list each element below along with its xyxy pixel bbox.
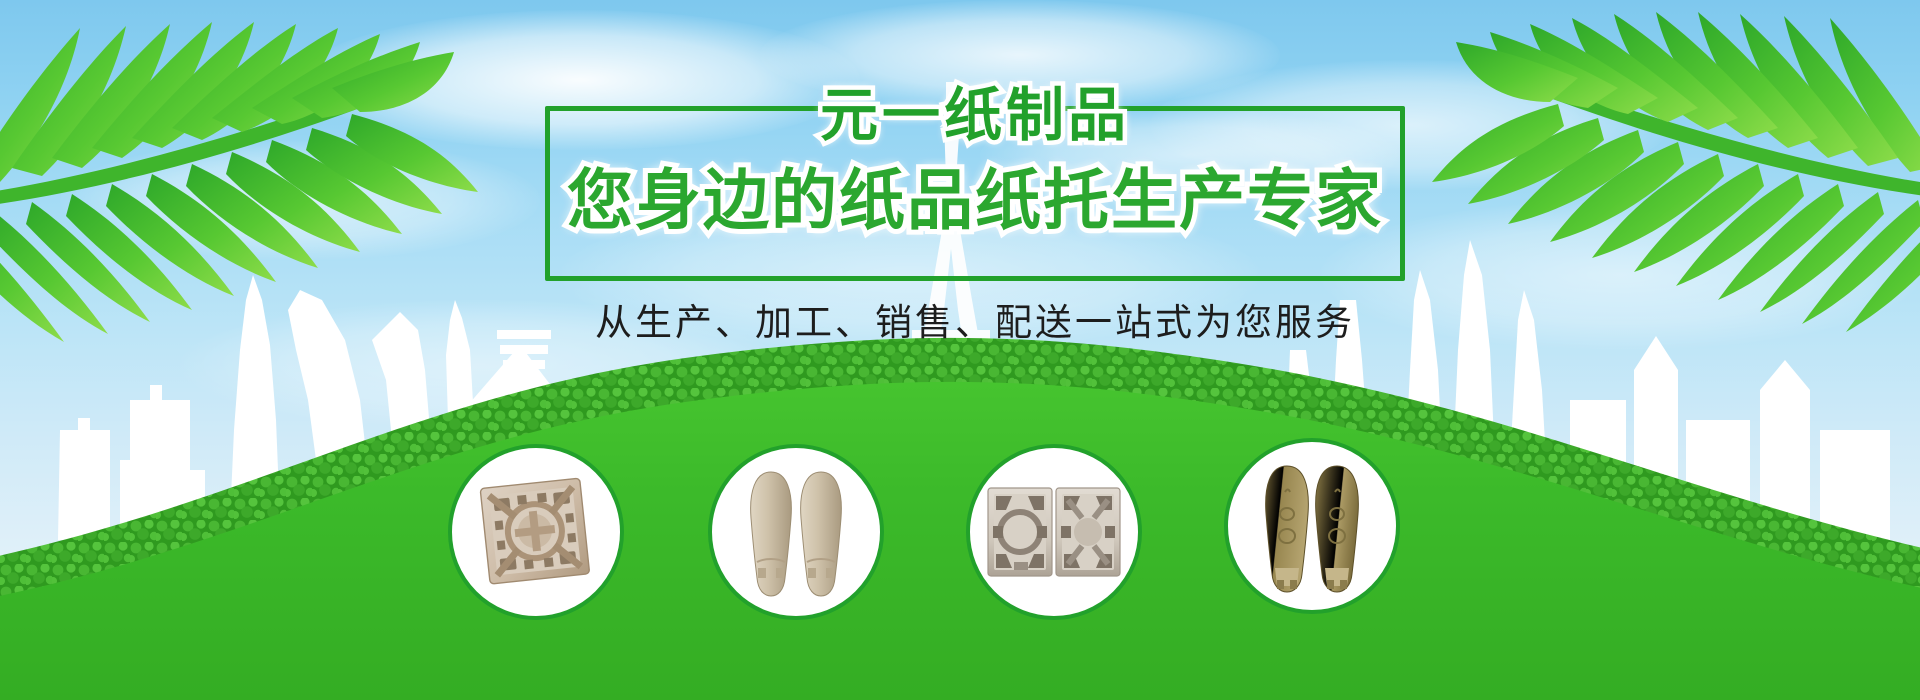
- molded-pulp-double-tray-icon: [984, 476, 1124, 588]
- paper-pulp-shoe-tree-dark-icon: [1247, 456, 1377, 596]
- promotional-banner: 元一纸制品 您身边的纸品纸托生产专家 从生产、加工、销售、配送一站式为您服务: [0, 0, 1920, 700]
- paper-pulp-shoe-tree-icon: [731, 462, 861, 602]
- product-circle-molded-pulp-double-tray[interactable]: [966, 444, 1142, 620]
- product-circle-paper-pulp-shoe-tree-light[interactable]: [708, 444, 884, 620]
- product-showcase: [0, 0, 1920, 700]
- product-circle-molded-pulp-square-tray[interactable]: [448, 444, 624, 620]
- product-circle-paper-pulp-shoe-tree-dark[interactable]: [1224, 438, 1400, 614]
- molded-pulp-square-tray-icon: [471, 467, 601, 597]
